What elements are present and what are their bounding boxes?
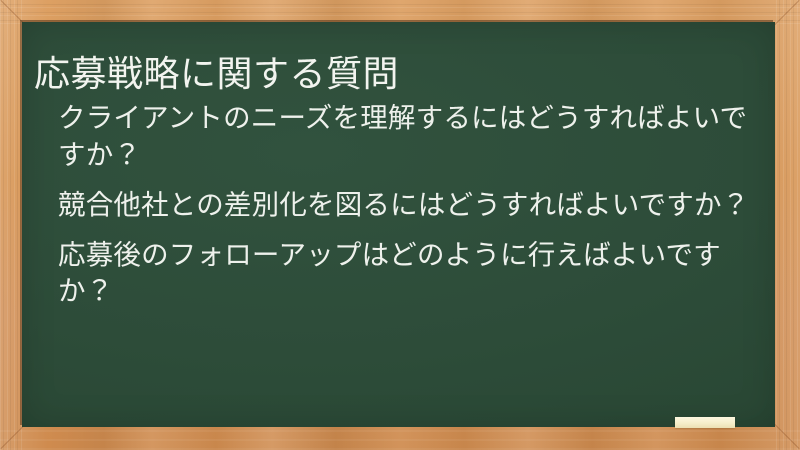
chalkboard-surface: 応募戦略に関する質問 クライアントのニーズを理解するにはどうすればよいですか？ … [22, 22, 775, 427]
chalkboard-slide: 応募戦略に関する質問 クライアントのニーズを理解するにはどうすればよいですか？ … [0, 0, 800, 450]
question-list: クライアントのニーズを理解するにはどうすればよいですか？ 競合他社との差別化を図… [58, 100, 751, 310]
page-title: 応募戦略に関する質問 [34, 52, 759, 97]
chalk-stick-icon [675, 417, 735, 428]
list-item: クライアントのニーズを理解するにはどうすればよいですか？ [58, 100, 751, 174]
list-item: 応募後のフォローアップはどのように行えばよいですか？ [58, 237, 751, 311]
list-item: 競合他社との差別化を図るにはどうすればよいですか？ [58, 187, 751, 224]
